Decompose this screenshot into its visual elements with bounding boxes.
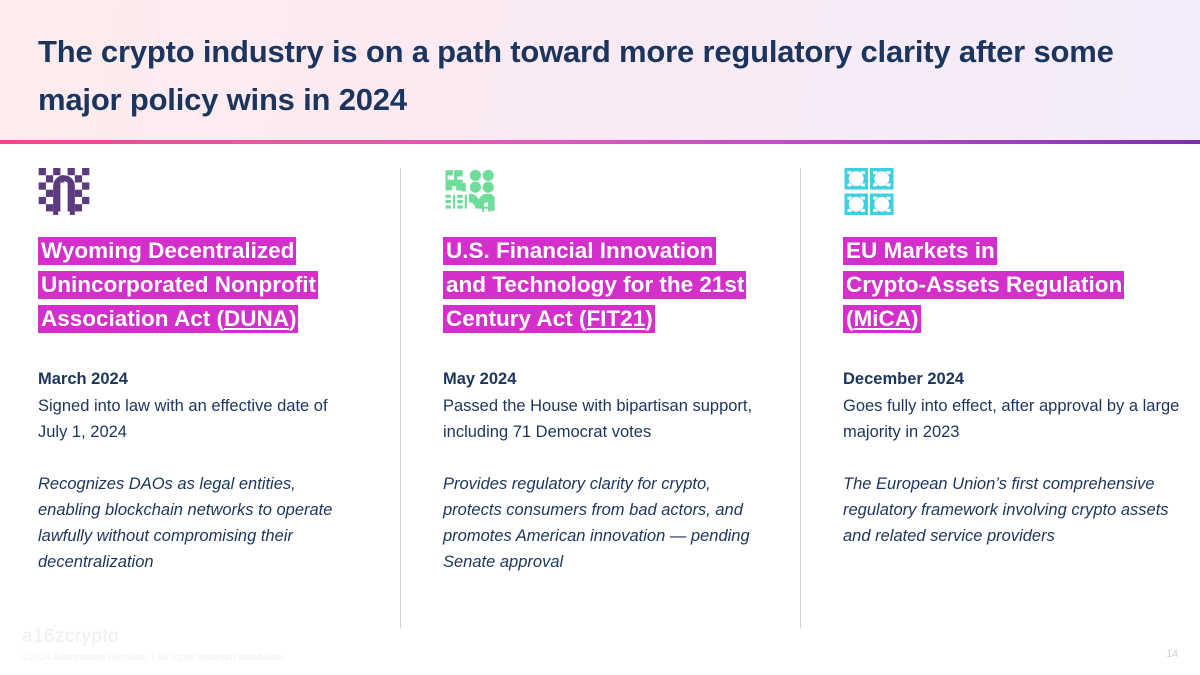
page-number: 14 bbox=[1166, 648, 1178, 660]
milestone-description: Goes fully into effect, after approval b… bbox=[843, 393, 1182, 445]
act-link-duna[interactable]: DUNA bbox=[224, 306, 289, 331]
four-circles-grid-icon bbox=[843, 168, 895, 215]
organic-blob-grid-icon bbox=[443, 168, 495, 215]
slide-header: The crypto industry is on a path toward … bbox=[0, 0, 1200, 140]
slide: The crypto industry is on a path toward … bbox=[0, 0, 1200, 675]
act-link-mica[interactable]: MiCA bbox=[854, 306, 912, 331]
milestone-date: December 2024 bbox=[843, 367, 1182, 393]
act-link-fit21[interactable]: FIT21 bbox=[586, 306, 645, 331]
page-title: The crypto industry is on a path toward … bbox=[38, 28, 1142, 124]
act-title-line-3-text: Century Act ( bbox=[446, 306, 586, 331]
act-title-line-1: U.S. Financial Innovation bbox=[443, 237, 716, 265]
milestone-description: Passed the House with bipartisan support… bbox=[443, 393, 770, 445]
milestone-description: Signed into law with an effective date o… bbox=[38, 393, 360, 445]
brand-logo: a16zcrypto bbox=[22, 626, 119, 648]
act-title: EU Markets in Crypto-Assets Regulation (… bbox=[843, 234, 1182, 337]
column-fit21: U.S. Financial Innovation and Technology… bbox=[400, 168, 800, 628]
pixel-arch-icon bbox=[38, 168, 90, 215]
act-title-line-2: and Technology for the 21st bbox=[443, 271, 746, 299]
act-title: Wyoming Decentralized Unincorporated Non… bbox=[38, 234, 360, 337]
act-title-line-3: Century Act (FIT21) bbox=[443, 305, 655, 333]
copyright-text: ©2024 Andreessen Horowitz. | All rights … bbox=[22, 652, 285, 663]
act-title-line-3-tail: ) bbox=[645, 306, 653, 331]
act-title-line-3: Association Act (DUNA) bbox=[38, 305, 298, 333]
act-title-line-3: (MiCA) bbox=[843, 305, 921, 333]
act-title-line-1: Wyoming Decentralized bbox=[38, 237, 296, 265]
milestone-note: The European Union’s first comprehensive… bbox=[843, 471, 1182, 549]
act-title-line-3-tail: ) bbox=[911, 306, 919, 331]
act-title: U.S. Financial Innovation and Technology… bbox=[443, 234, 770, 337]
content-columns: Wyoming Decentralized Unincorporated Non… bbox=[0, 168, 1200, 628]
milestone-date: May 2024 bbox=[443, 367, 770, 393]
milestone-note: Provides regulatory clarity for crypto, … bbox=[443, 471, 770, 575]
act-title-line-3-tail: ) bbox=[289, 306, 297, 331]
column-mica: EU Markets in Crypto-Assets Regulation (… bbox=[800, 168, 1200, 628]
milestone-note: Recognizes DAOs as legal entities, enabl… bbox=[38, 471, 360, 575]
act-title-line-2: Unincorporated Nonprofit bbox=[38, 271, 318, 299]
milestone-date: March 2024 bbox=[38, 367, 360, 393]
act-title-line-1: EU Markets in bbox=[843, 237, 997, 265]
act-title-line-3-text: ( bbox=[846, 306, 854, 331]
act-title-line-3-text: Association Act ( bbox=[41, 306, 224, 331]
act-title-line-2: Crypto-Assets Regulation bbox=[843, 271, 1124, 299]
header-divider-rule bbox=[0, 140, 1200, 144]
column-duna: Wyoming Decentralized Unincorporated Non… bbox=[0, 168, 400, 628]
